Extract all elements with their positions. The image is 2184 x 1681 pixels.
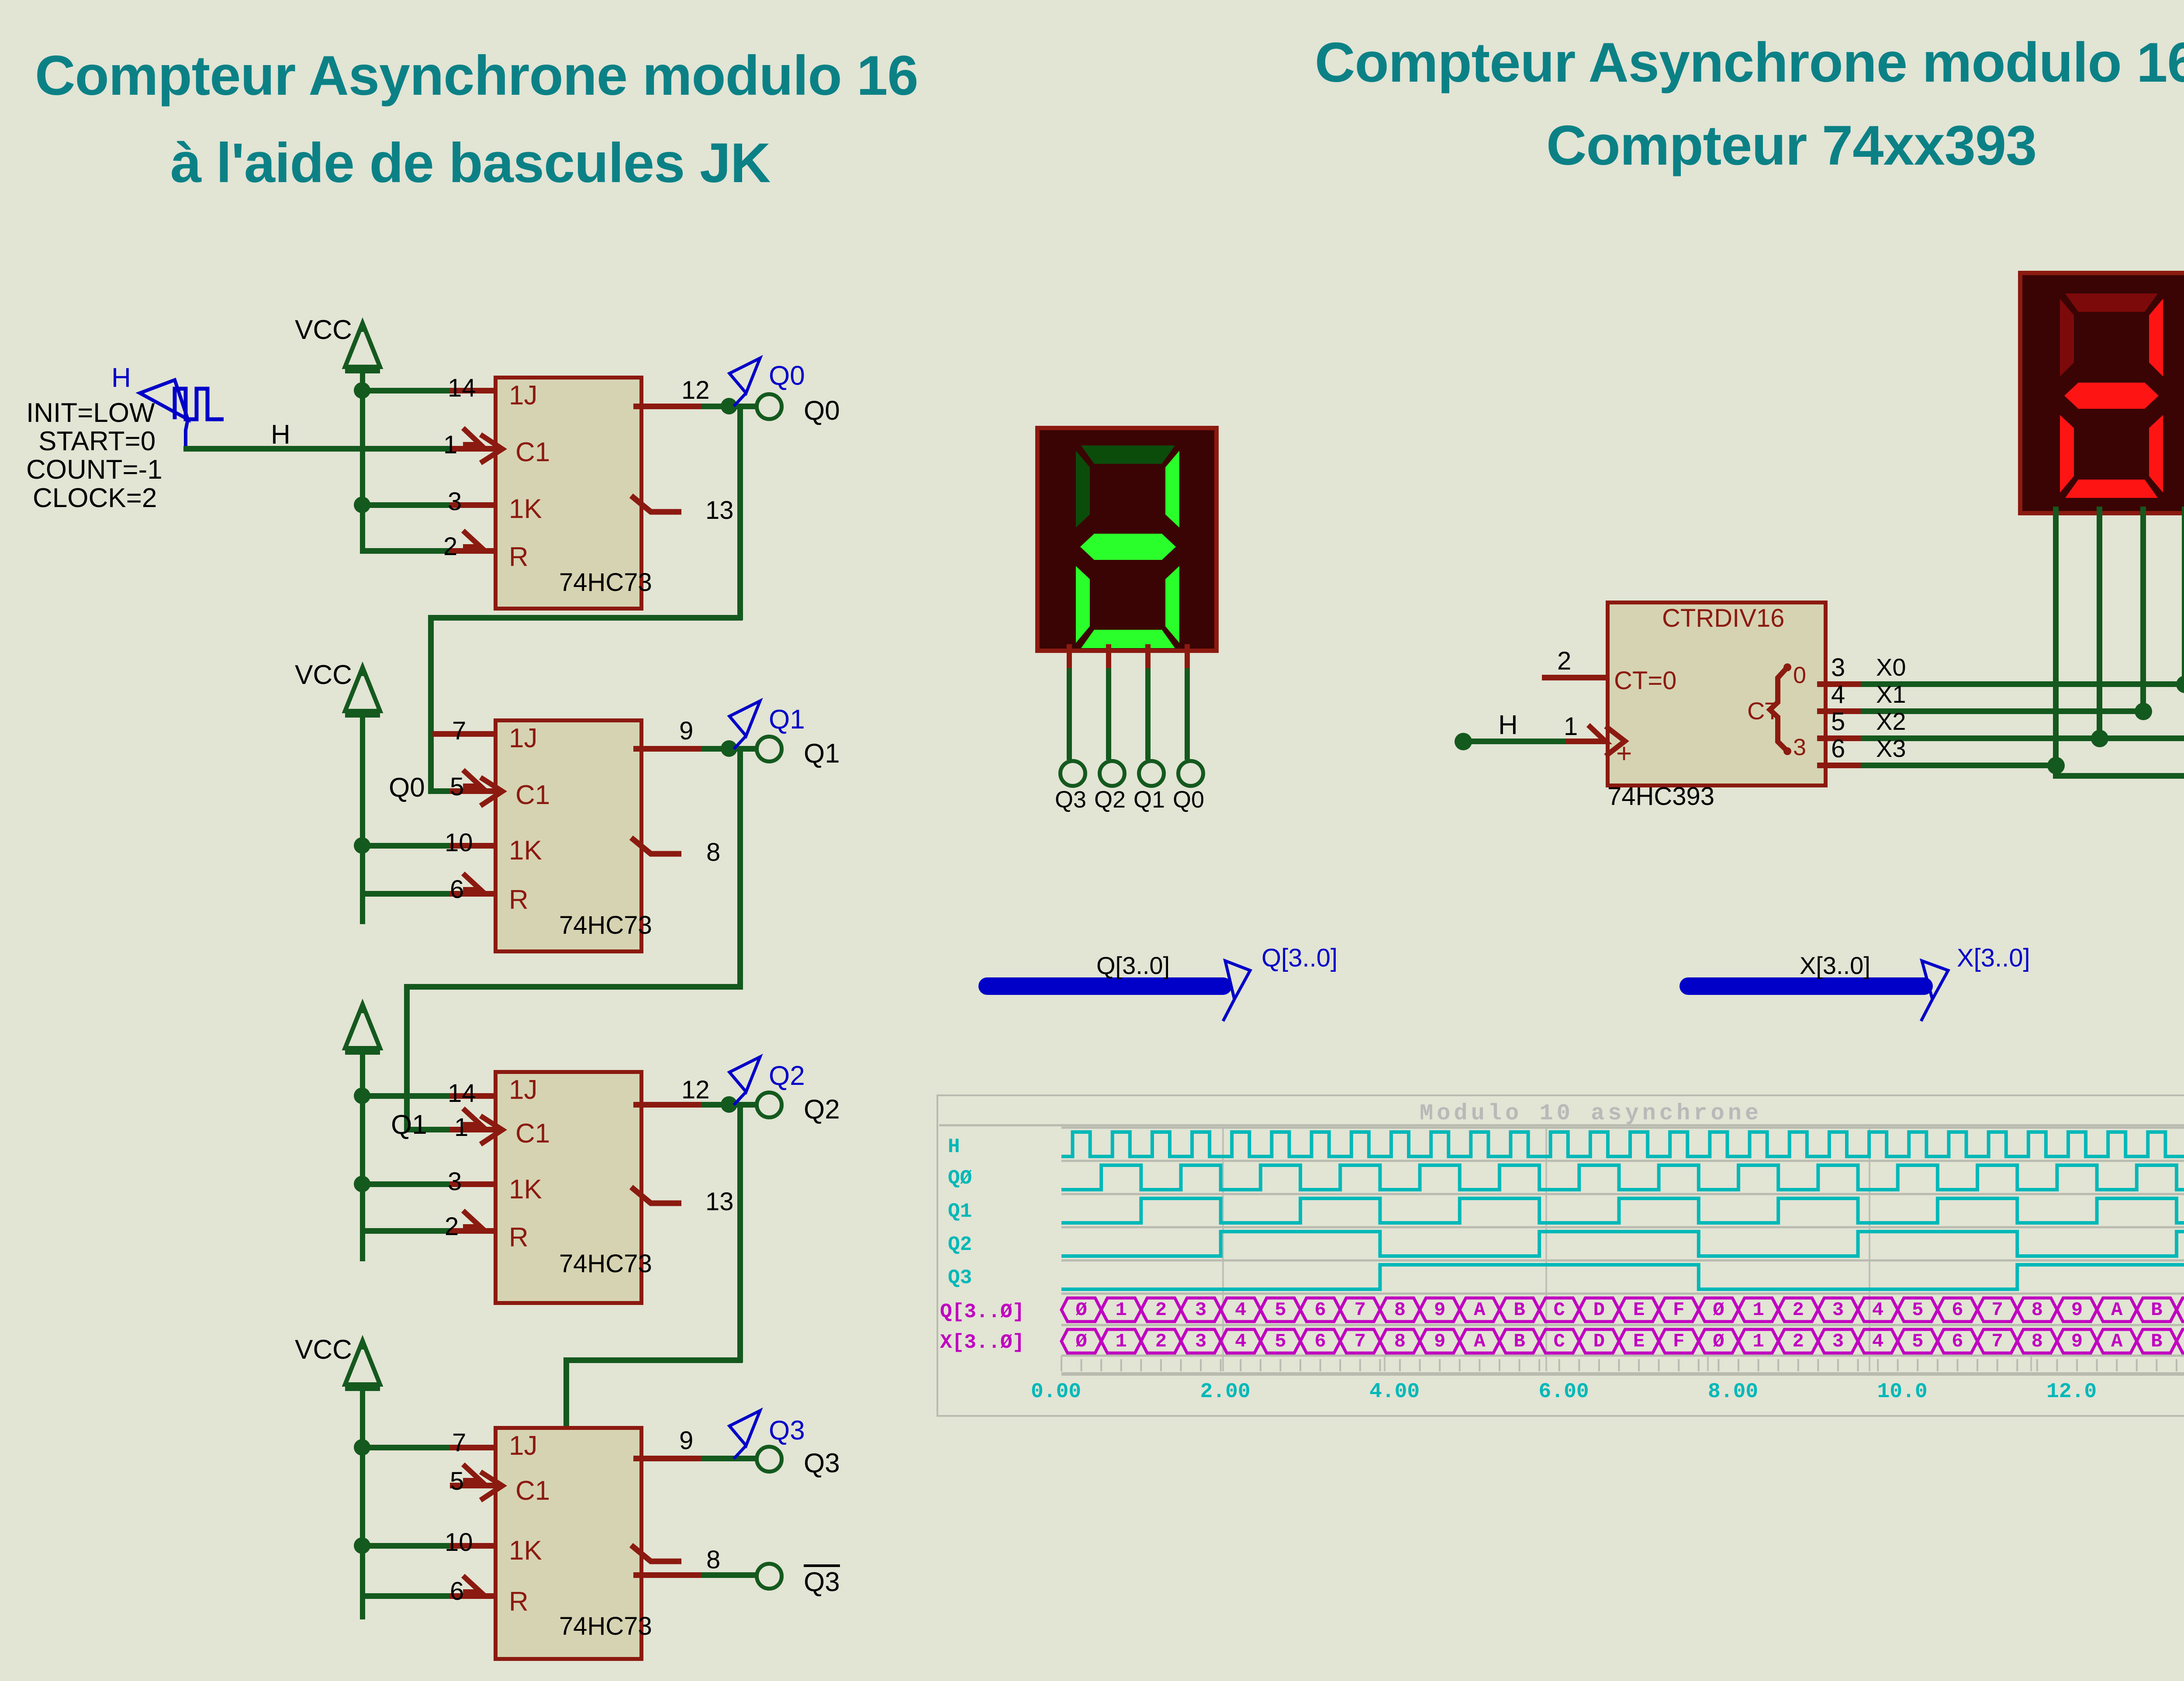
vcc-label-ff4: VCC <box>295 1334 352 1365</box>
ff3-clk-triangles <box>0 0 2184 1681</box>
pin-q-ff4 <box>633 1456 703 1461</box>
seg-green-lead-3 <box>1067 644 1072 670</box>
seg-green-lead-1 <box>1145 644 1151 670</box>
ff4-pin-5: 5 <box>450 1467 464 1496</box>
ff3-pin-3: 3 <box>448 1167 462 1196</box>
ff3-part-label: 74HC73 <box>559 1249 652 1278</box>
wire-q3-out-ff4 <box>701 1456 758 1461</box>
ff3-inner-1j: 1J <box>509 1074 537 1105</box>
counter-out2-wire <box>1861 735 2184 741</box>
ff4-pin-9: 9 <box>679 1426 693 1455</box>
ff4-pin-7: 7 <box>452 1428 466 1457</box>
waveform-traces <box>0 0 2184 1681</box>
junction-vcc-1k-ff4 <box>354 1537 370 1554</box>
seg-green-wire-3 <box>1067 668 1072 760</box>
bus-value-cell: B <box>2137 1331 2177 1352</box>
bus-q[interactable] <box>978 977 1232 995</box>
vcc-symbol-ff2 <box>0 0 2184 1681</box>
bus-x[interactable] <box>1679 977 1933 995</box>
bus-value-cell: 8 <box>1380 1331 1420 1352</box>
ff2-inner-c1: C1 <box>515 780 550 811</box>
wire-vcc-to-1j-ff1 <box>360 388 452 393</box>
seven-segment-display-green <box>1035 426 1219 653</box>
terminal-q3-bar[interactable] <box>755 1562 784 1591</box>
ff4-inner-c1: C1 <box>515 1475 550 1506</box>
right-title-line2: Compteur 74xx393 <box>1546 114 2036 178</box>
stimulus-count-label: COUNT=-1 <box>26 454 162 485</box>
terminal-seg-q2[interactable] <box>1098 759 1127 788</box>
stimulus-symbol-icon <box>0 0 2184 1681</box>
bus-value-cell: 5 <box>1261 1300 1300 1321</box>
bus-value-cell: 3 <box>1181 1300 1221 1321</box>
counter-pin-3-label: 3 <box>1831 653 1845 682</box>
ff3-inner-c1: C1 <box>515 1118 550 1149</box>
vcc-symbol-ff4 <box>0 0 2184 1681</box>
bus-value-cell: 6 <box>1300 1300 1340 1321</box>
ff1-clk-triangles <box>0 0 2184 1681</box>
counter-ct-label: CT <box>1747 697 1780 725</box>
ff3-pin-12: 12 <box>681 1075 710 1105</box>
bus-value-cell: 2 <box>1778 1300 1818 1321</box>
bus-value-cell: C <box>1539 1300 1579 1321</box>
pin-q-ff1 <box>633 404 703 409</box>
ff4-pin-6: 6 <box>450 1577 464 1606</box>
counter-pin-4-label: 4 <box>1831 680 1845 709</box>
wire-vcc-to-1k-ff3 <box>360 1181 452 1187</box>
terminal-seg-q3[interactable] <box>1058 759 1087 788</box>
bus-value-cell: 1 <box>1738 1300 1778 1321</box>
seven-segment-green-segments <box>0 0 2184 1681</box>
pin-q-ff2 <box>633 746 703 752</box>
junction-x3 <box>2047 757 2065 774</box>
stimulus-start-label: START=0 <box>38 426 156 457</box>
bus-value-cell: 6 <box>1300 1331 1340 1352</box>
waveform-row-label-q1: Q1 <box>948 1200 972 1223</box>
ff1-part-label: 74HC73 <box>559 568 652 597</box>
wire-q1-down <box>737 749 743 989</box>
bus-value-cell: 3 <box>1818 1300 1858 1321</box>
bus-value-cell: 4 <box>1858 1300 1898 1321</box>
bus-value-cell: Ø <box>1061 1331 1101 1352</box>
wire-vcc-to-1j-ff3 <box>360 1093 452 1099</box>
counter-pin-2-label: 2 <box>1557 646 1571 676</box>
bus-value-cell: 3 <box>1818 1331 1858 1352</box>
riser-to-display-seg2 <box>2097 507 2102 738</box>
bus-x-name-label: X[3..0] <box>1800 951 1870 980</box>
counter-ct-bracket-icon <box>0 0 2184 1681</box>
wire-vcc-to-r-ff1 <box>360 548 452 554</box>
bus-value-cell: 7 <box>1977 1300 2017 1321</box>
counter-out-label-x2: X2 <box>1876 707 1906 735</box>
bus-value-cell: 2 <box>1141 1300 1181 1321</box>
waveform-row-label-q2: Q2 <box>948 1233 972 1256</box>
vcc-symbol-ff3 <box>0 0 2184 1681</box>
wire-vcc-to-1k-ff2 <box>360 843 452 849</box>
time-tick-label: 0.00 <box>1031 1380 1081 1404</box>
ff3-pin-2: 2 <box>445 1212 459 1241</box>
junction-vcc-1k-ff1 <box>354 497 370 513</box>
left-title-line1: Compteur Asynchrone modulo 16 <box>35 44 918 108</box>
bus-value-cell: 5 <box>1898 1300 1938 1321</box>
bus-value-cell: B <box>2137 1300 2177 1321</box>
waveform-panel <box>936 1094 2184 1417</box>
time-tick-label: 4.00 <box>1369 1380 1420 1404</box>
bus-value-cell: 6 <box>1938 1300 1977 1321</box>
ff1-pin-13: 13 <box>705 496 734 525</box>
counter-function-label: CTRDIV16 <box>1662 604 1784 633</box>
bus-value-cell: 4 <box>1221 1331 1261 1352</box>
riser-to-display-seg3 <box>2053 507 2059 765</box>
terminal-q0[interactable] <box>755 392 784 421</box>
bus-value-cell: 2 <box>1778 1331 1818 1352</box>
ff4-clk-triangles <box>0 0 2184 1681</box>
seg-green-wire-2 <box>1106 668 1111 760</box>
bus-value-cell: D <box>1579 1331 1619 1352</box>
stimulus-clock-label: CLOCK=2 <box>33 483 157 514</box>
counter-clk-src-label: H <box>1498 710 1518 741</box>
junction-vcc-1k-ff2 <box>354 837 370 854</box>
vcc-label-ff2: VCC <box>295 659 352 690</box>
ff3-out-terminal-label: Q2 <box>804 1094 840 1125</box>
ff2-pin-6: 6 <box>450 875 464 904</box>
pin-qn-ff4 <box>633 1572 703 1578</box>
bus-value-cell: 1 <box>1101 1331 1141 1352</box>
waveform-title: Modulo 10 asynchrone <box>1420 1101 1762 1126</box>
wire-vcc-to-1k-ff4 <box>360 1543 452 1549</box>
ff4-net-flag-icon <box>0 0 2184 1681</box>
wire-q1-left <box>404 984 743 990</box>
wire-q2-left <box>563 1357 743 1363</box>
wire-vcc-to-r-ff4 <box>360 1593 452 1599</box>
bus-value-cell: E <box>1619 1331 1659 1352</box>
wire-vcc-to-1k-ff1 <box>360 502 452 508</box>
counter-part-label: 74HC393 <box>1607 782 1714 811</box>
vcc-symbol-ff1 <box>0 0 2184 1681</box>
time-tick-label: 2.00 <box>1200 1380 1251 1404</box>
waveform-row-label-xbus: X[3..Ø] <box>940 1331 1024 1354</box>
ff3-clk-src-label: Q1 <box>391 1109 427 1140</box>
waveform-row-label-qbus: Q[3..Ø] <box>940 1301 1024 1323</box>
counter-out3-wire <box>1861 763 2057 768</box>
junction-vcc-1j-ff3 <box>354 1087 370 1104</box>
wire-q3n-out-ff4 <box>701 1572 758 1578</box>
junction-x2 <box>2091 730 2108 747</box>
bus-x-flag-icon <box>0 0 2184 1681</box>
bus-q-name-label: Q[3..0] <box>1096 951 1170 980</box>
riser-to-display-seg0 <box>2182 507 2184 684</box>
seg-green-wire-1 <box>1145 668 1151 760</box>
seg-green-pin-label-q0: Q0 <box>1173 786 1204 813</box>
seg-green-wire-0 <box>1185 668 1190 760</box>
ff2-clk-src-label: Q0 <box>389 772 425 803</box>
seven-segment-display-red <box>2018 271 2184 515</box>
ff4-pin-8: 8 <box>706 1545 720 1574</box>
vcc-rail-ff4 <box>360 1388 365 1619</box>
time-tick-label: 8.00 <box>1708 1380 1758 1404</box>
ff1-pin-14: 14 <box>448 373 476 403</box>
waveform-row-label-q0: QØ <box>948 1167 972 1190</box>
junction-x0 <box>2176 676 2184 693</box>
bus-q-net-label: Q[3..0] <box>1261 943 1337 973</box>
counter-pin-reset-lead <box>1542 675 1607 680</box>
ff1-inner-r: R <box>509 542 529 573</box>
bus-value-cell: 8 <box>1380 1300 1420 1321</box>
seg-green-lead-0 <box>1185 644 1190 670</box>
terminal-q2[interactable] <box>755 1091 784 1119</box>
bus-value-cell: Ø <box>1699 1300 1738 1321</box>
vcc-label-ff1: VCC <box>295 314 352 345</box>
left-title-line2: à l'aide de bascules JK <box>170 131 770 195</box>
bus-value-cell: 3 <box>1181 1331 1221 1352</box>
ff4-qn-terminal-label: Q3 <box>804 1564 840 1596</box>
ff1-net-label: Q0 <box>769 360 805 391</box>
ff1-inner-c1: C1 <box>515 437 550 468</box>
counter-pin-6-label: 6 <box>1831 734 1845 763</box>
waveform-row-label-q3: Q3 <box>948 1267 972 1289</box>
ff2-inner-1k: 1K <box>509 835 542 866</box>
counter-reset-label: CT=0 <box>1614 666 1676 695</box>
ff1-inner-1j: 1J <box>509 380 537 411</box>
ff3-inner-1k: 1K <box>509 1174 542 1205</box>
bus-value-cell: A <box>1460 1331 1500 1352</box>
ff2-net-flag-icon <box>0 0 2184 1681</box>
ff4-inner-1k: 1K <box>509 1535 542 1566</box>
bus-value-cell: Ø <box>1061 1300 1101 1321</box>
bus-value-cell: 9 <box>2057 1331 2097 1352</box>
bus-value-cell: B <box>1500 1300 1539 1321</box>
pin-q-ff3 <box>633 1102 703 1108</box>
wire-vcc-to-1j-ff4 <box>360 1445 452 1450</box>
ff2-clk-triangles <box>0 0 2184 1681</box>
seg-green-pin-label-q3: Q3 <box>1055 786 1086 813</box>
seg-green-lead-2 <box>1106 644 1111 670</box>
ff3-pin-13: 13 <box>705 1187 734 1216</box>
ff1-inner-1k: 1K <box>509 494 542 525</box>
ff1-net-flag-icon <box>0 0 2184 1681</box>
stimulus-init-label: INIT=LOW <box>26 397 155 428</box>
ff2-inner-r: R <box>509 884 529 915</box>
bus-value-cell: 4 <box>1858 1331 1898 1352</box>
ff3-net-label: Q2 <box>769 1060 805 1091</box>
time-tick-label: 12.0 <box>2046 1380 2097 1404</box>
terminal-q1[interactable] <box>755 735 784 763</box>
ff1-pin-2: 2 <box>443 532 457 561</box>
counter-out0-wire <box>1861 681 2184 687</box>
ff2-pin-8: 8 <box>706 838 720 867</box>
x3-to-indicator-wire <box>2053 773 2184 779</box>
ff3-pin-14: 14 <box>448 1079 476 1108</box>
ff2-inner-1j: 1J <box>509 723 537 754</box>
time-tick-label: 10.0 <box>1877 1380 1928 1404</box>
junction-vcc-1j-ff1 <box>354 382 370 399</box>
bus-value-cell: 9 <box>1420 1331 1460 1352</box>
bus-value-cell: 7 <box>1977 1331 2017 1352</box>
bus-value-cell: C <box>1539 1331 1579 1352</box>
bus-value-cell: A <box>1460 1300 1500 1321</box>
bus-value-cell: F <box>1659 1331 1699 1352</box>
ff2-pin-5: 5 <box>450 772 464 801</box>
bus-value-cell: 8 <box>2017 1300 2057 1321</box>
stimulus-name-label: H <box>111 362 131 393</box>
junction-q0-ff1 <box>721 398 737 414</box>
bus-value-cell: A <box>2097 1300 2137 1321</box>
terminal-seg-q0[interactable] <box>1176 759 1205 788</box>
riser-to-display-seg1 <box>2140 507 2146 711</box>
bus-value-cell: 4 <box>1221 1300 1261 1321</box>
ff2-pin-7: 7 <box>452 716 466 746</box>
bus-value-cell: F <box>1659 1300 1699 1321</box>
wire-vcc-to-r-ff3 <box>360 1228 452 1234</box>
wire-vcc-to-r-ff2 <box>360 891 452 897</box>
bus-value-cell: E <box>1619 1300 1659 1321</box>
junction-q2-ff3 <box>721 1096 737 1113</box>
pin-1j-ff2 <box>432 731 502 737</box>
wire-clock-h-ff1 <box>183 446 452 452</box>
counter-out-label-x3: X3 <box>1876 734 1906 763</box>
seg-green-pin-label-q2: Q2 <box>1094 786 1126 813</box>
wire-q2-down <box>737 1105 743 1363</box>
counter-ct-top-index: 0 <box>1793 662 1806 689</box>
ff2-out-terminal-label: Q1 <box>804 738 840 769</box>
ff2-pin-9: 9 <box>679 716 693 746</box>
bus-value-cell: 5 <box>1898 1331 1938 1352</box>
counter-clk-source-dot <box>1455 733 1472 750</box>
bus-value-cell: C <box>2177 1331 2184 1352</box>
bus-value-cell: 9 <box>1420 1300 1460 1321</box>
wire-q0-left <box>428 615 743 621</box>
bus-x-net-label: X[3..0] <box>1957 943 2030 973</box>
bus-q-flag-icon <box>0 0 2184 1681</box>
ff3-net-flag-icon <box>0 0 2184 1681</box>
bus-value-cell: 2 <box>1141 1331 1181 1352</box>
junction-vcc-1k-ff3 <box>354 1176 370 1192</box>
wire-q0-down <box>737 406 743 620</box>
counter-pin-1-label: 1 <box>1564 712 1578 741</box>
ff3-pin-1: 1 <box>454 1113 468 1142</box>
bus-value-cell: 7 <box>1340 1300 1380 1321</box>
terminal-q3[interactable] <box>755 1445 784 1474</box>
seg-green-pin-label-q1: Q1 <box>1133 786 1165 813</box>
counter-ct-bottom-index: 3 <box>1793 734 1806 761</box>
junction-vcc-1j-ff4 <box>354 1439 370 1456</box>
ff4-pin-10: 10 <box>445 1528 473 1557</box>
bus-value-cell: 7 <box>1340 1331 1380 1352</box>
ff4-inner-r: R <box>509 1586 529 1617</box>
junction-x1 <box>2135 703 2152 720</box>
bus-value-cell: A <box>2097 1331 2137 1352</box>
bus-value-cell: 9 <box>2057 1300 2097 1321</box>
bus-value-cell: D <box>1579 1300 1619 1321</box>
bus-value-cell: C <box>2177 1300 2184 1321</box>
junction-q1-ff2 <box>721 740 737 757</box>
seven-segment-red-segments <box>0 0 2184 1681</box>
ff1-pin-3: 3 <box>448 487 462 516</box>
time-tick-label: 6.00 <box>1539 1380 1589 1404</box>
bus-value-cell: 5 <box>1261 1331 1300 1352</box>
ff2-pin-10: 10 <box>445 828 473 857</box>
bus-value-cell: 1 <box>1101 1300 1141 1321</box>
bus-value-cell: 1 <box>1738 1331 1778 1352</box>
counter-out-label-x1: X1 <box>1876 680 1906 708</box>
ff4-out-terminal-label: Q3 <box>804 1448 840 1479</box>
counter-pin-5-label: 5 <box>1831 707 1845 736</box>
terminal-seg-q1[interactable] <box>1137 759 1166 788</box>
ff2-net-label: Q1 <box>769 704 805 735</box>
ff4-part-label: 74HC73 <box>559 1612 652 1641</box>
wire-q0-down2 <box>428 615 434 794</box>
right-title-line1: Compteur Asynchrone modulo 16 <box>1315 31 2184 95</box>
ff4-inner-1j: 1J <box>509 1430 537 1461</box>
ff4-net-label: Q3 <box>769 1415 805 1446</box>
ff3-inner-r: R <box>509 1222 529 1253</box>
ff1-out-terminal-label: Q0 <box>804 395 840 426</box>
bus-value-cell: Ø <box>1699 1331 1738 1352</box>
ff2-part-label: 74HC73 <box>559 911 652 940</box>
bus-value-cell: 6 <box>1938 1331 1977 1352</box>
counter-clk-symbol: + <box>1616 738 1632 769</box>
bus-value-cell: B <box>1500 1331 1539 1352</box>
counter-out-label-x0: X0 <box>1876 653 1906 681</box>
bus-value-cell: 8 <box>2017 1331 2057 1352</box>
ff1-pin-12: 12 <box>681 376 710 405</box>
ff1-pin-1: 1 <box>443 430 457 459</box>
waveform-row-label-h: H <box>948 1136 960 1158</box>
